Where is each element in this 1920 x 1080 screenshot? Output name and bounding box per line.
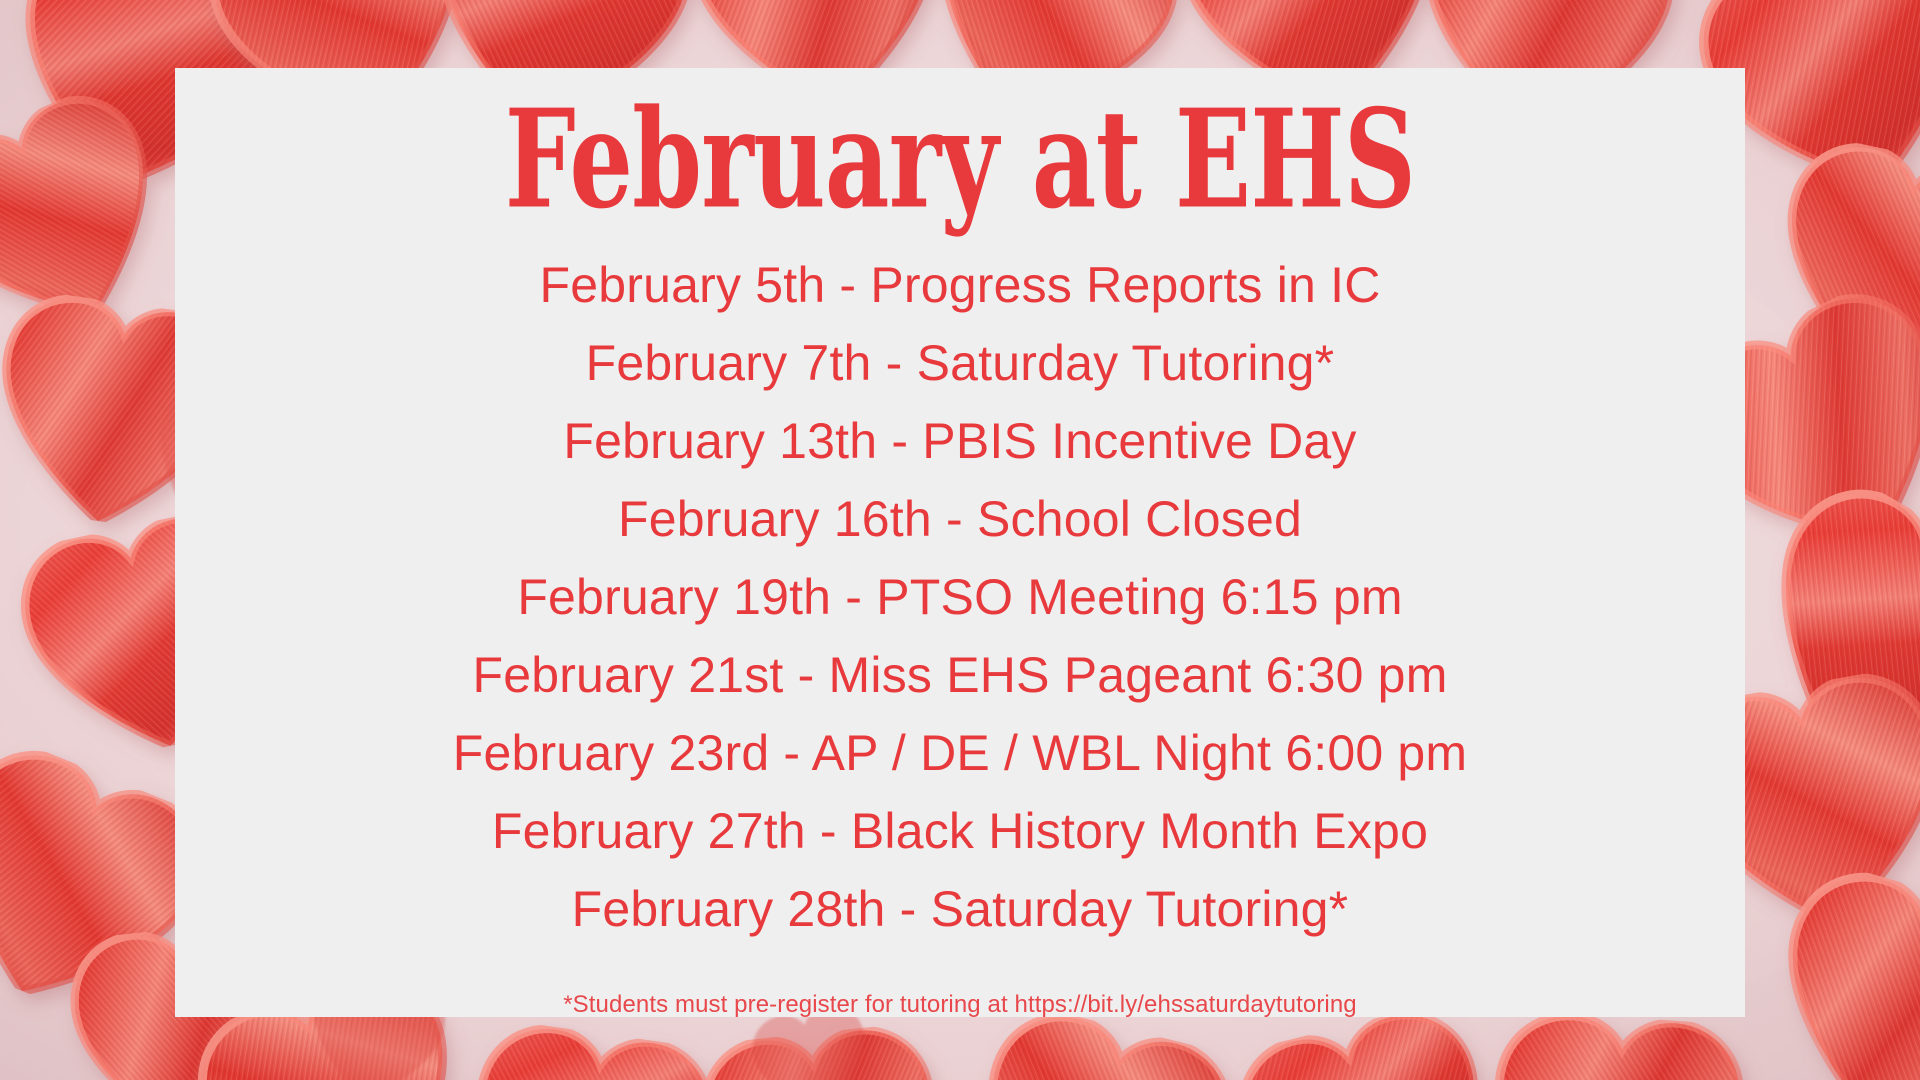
list-item: February 23rd - AP / DE / WBL Night 6:00… (175, 714, 1745, 792)
list-item: February 7th - Saturday Tutoring* (175, 324, 1745, 402)
footnote-text: *Students must pre-register for tutoring… (175, 990, 1745, 1020)
list-item: February 27th - Black History Month Expo (175, 792, 1745, 870)
list-item: February 21st - Miss EHS Pageant 6:30 pm (175, 636, 1745, 714)
content-card: February at EHS February 5th - Progress … (175, 68, 1745, 1017)
poster-canvas: February at EHS February 5th - Progress … (0, 0, 1920, 1080)
list-item: February 13th - PBIS Incentive Day (175, 402, 1745, 480)
list-item: February 5th - Progress Reports in IC (175, 246, 1745, 324)
list-item: February 16th - School Closed (175, 480, 1745, 558)
list-item: February 28th - Saturday Tutoring* (175, 870, 1745, 948)
page-title: February at EHS (348, 92, 1573, 228)
list-item: February 19th - PTSO Meeting 6:15 pm (175, 558, 1745, 636)
event-list: February 5th - Progress Reports in IC Fe… (175, 246, 1745, 948)
